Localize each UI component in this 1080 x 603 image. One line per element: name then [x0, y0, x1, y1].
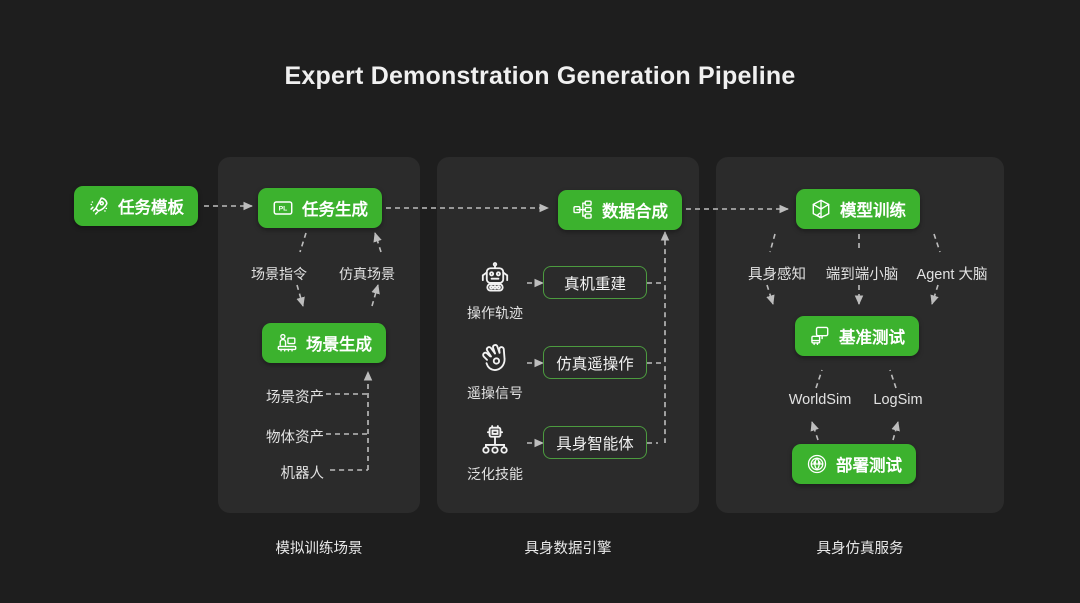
box-label: 具身智能体	[556, 432, 634, 454]
node-task-template[interactable]: 任务模板	[74, 186, 198, 226]
chip-network-icon	[478, 424, 512, 458]
edge-label-agent-brain: Agent 大脑	[904, 263, 1000, 284]
deploy-globe-icon	[806, 453, 828, 475]
diagram-canvas: Expert Demonstration Generation Pipeline	[0, 0, 1080, 603]
node-task-generation[interactable]: PL 任务生成	[258, 188, 382, 228]
worker-conveyor-icon	[276, 332, 298, 354]
node-label: 基准测试	[839, 324, 905, 348]
source-label-generalization-skill: 泛化技能	[455, 464, 535, 484]
node-label: 数据合成	[602, 198, 668, 222]
input-label-scene-assets: 场景资产	[252, 386, 324, 407]
robot-icon	[478, 262, 512, 296]
node-model-training[interactable]: 模型训练	[796, 189, 920, 229]
node-label: 模型训练	[840, 197, 906, 221]
box-label: 真机重建	[564, 272, 626, 294]
box-embodied-agent[interactable]: 具身智能体	[543, 426, 647, 459]
edge-label-scene-instruction: 场景指令	[238, 264, 320, 284]
svg-text:PL: PL	[279, 205, 288, 212]
source-label-teleop-signal: 遥操信号	[455, 383, 535, 403]
source-label-operation-trajectory: 操作轨迹	[455, 303, 535, 323]
caption-embodied-simulation-service: 具身仿真服务	[716, 537, 1004, 558]
pl-frame-icon: PL	[272, 197, 294, 219]
input-label-robot: 机器人	[252, 462, 324, 483]
box-label: 仿真遥操作	[556, 352, 634, 374]
edge-label-simulated-scene: 仿真场景	[326, 264, 408, 284]
node-deployment-test[interactable]: 部署测试	[792, 444, 916, 484]
cube-train-icon	[810, 198, 832, 220]
caption-embodied-data-engine: 具身数据引擎	[437, 537, 699, 558]
data-flow-icon	[572, 199, 594, 221]
page-title: Expert Demonstration Generation Pipeline	[0, 62, 1080, 91]
edge-label-logsim: LogSim	[862, 392, 934, 408]
input-label-object-assets: 物体资产	[252, 426, 324, 447]
rocket-icon	[88, 195, 110, 217]
node-label: 任务模板	[118, 194, 184, 218]
caption-simulation-training: 模拟训练场景	[218, 537, 420, 558]
edge-label-embodied-perception: 具身感知	[738, 263, 816, 284]
node-scene-generation[interactable]: 场景生成	[262, 323, 386, 363]
edge-label-end-to-end-cerebellum: 端到端小脑	[816, 263, 908, 284]
node-benchmark-test[interactable]: 基准测试	[795, 316, 919, 356]
monitor-bench-icon	[809, 325, 831, 347]
node-label: 部署测试	[836, 452, 902, 476]
node-label: 任务生成	[302, 196, 368, 220]
box-simulated-teleoperation[interactable]: 仿真遥操作	[543, 346, 647, 379]
glove-icon	[478, 342, 512, 376]
box-real-machine-reconstruction[interactable]: 真机重建	[543, 266, 647, 299]
node-label: 场景生成	[306, 331, 372, 355]
edge-label-worldsim: WorldSim	[780, 392, 860, 408]
node-data-synthesis[interactable]: 数据合成	[558, 190, 682, 230]
